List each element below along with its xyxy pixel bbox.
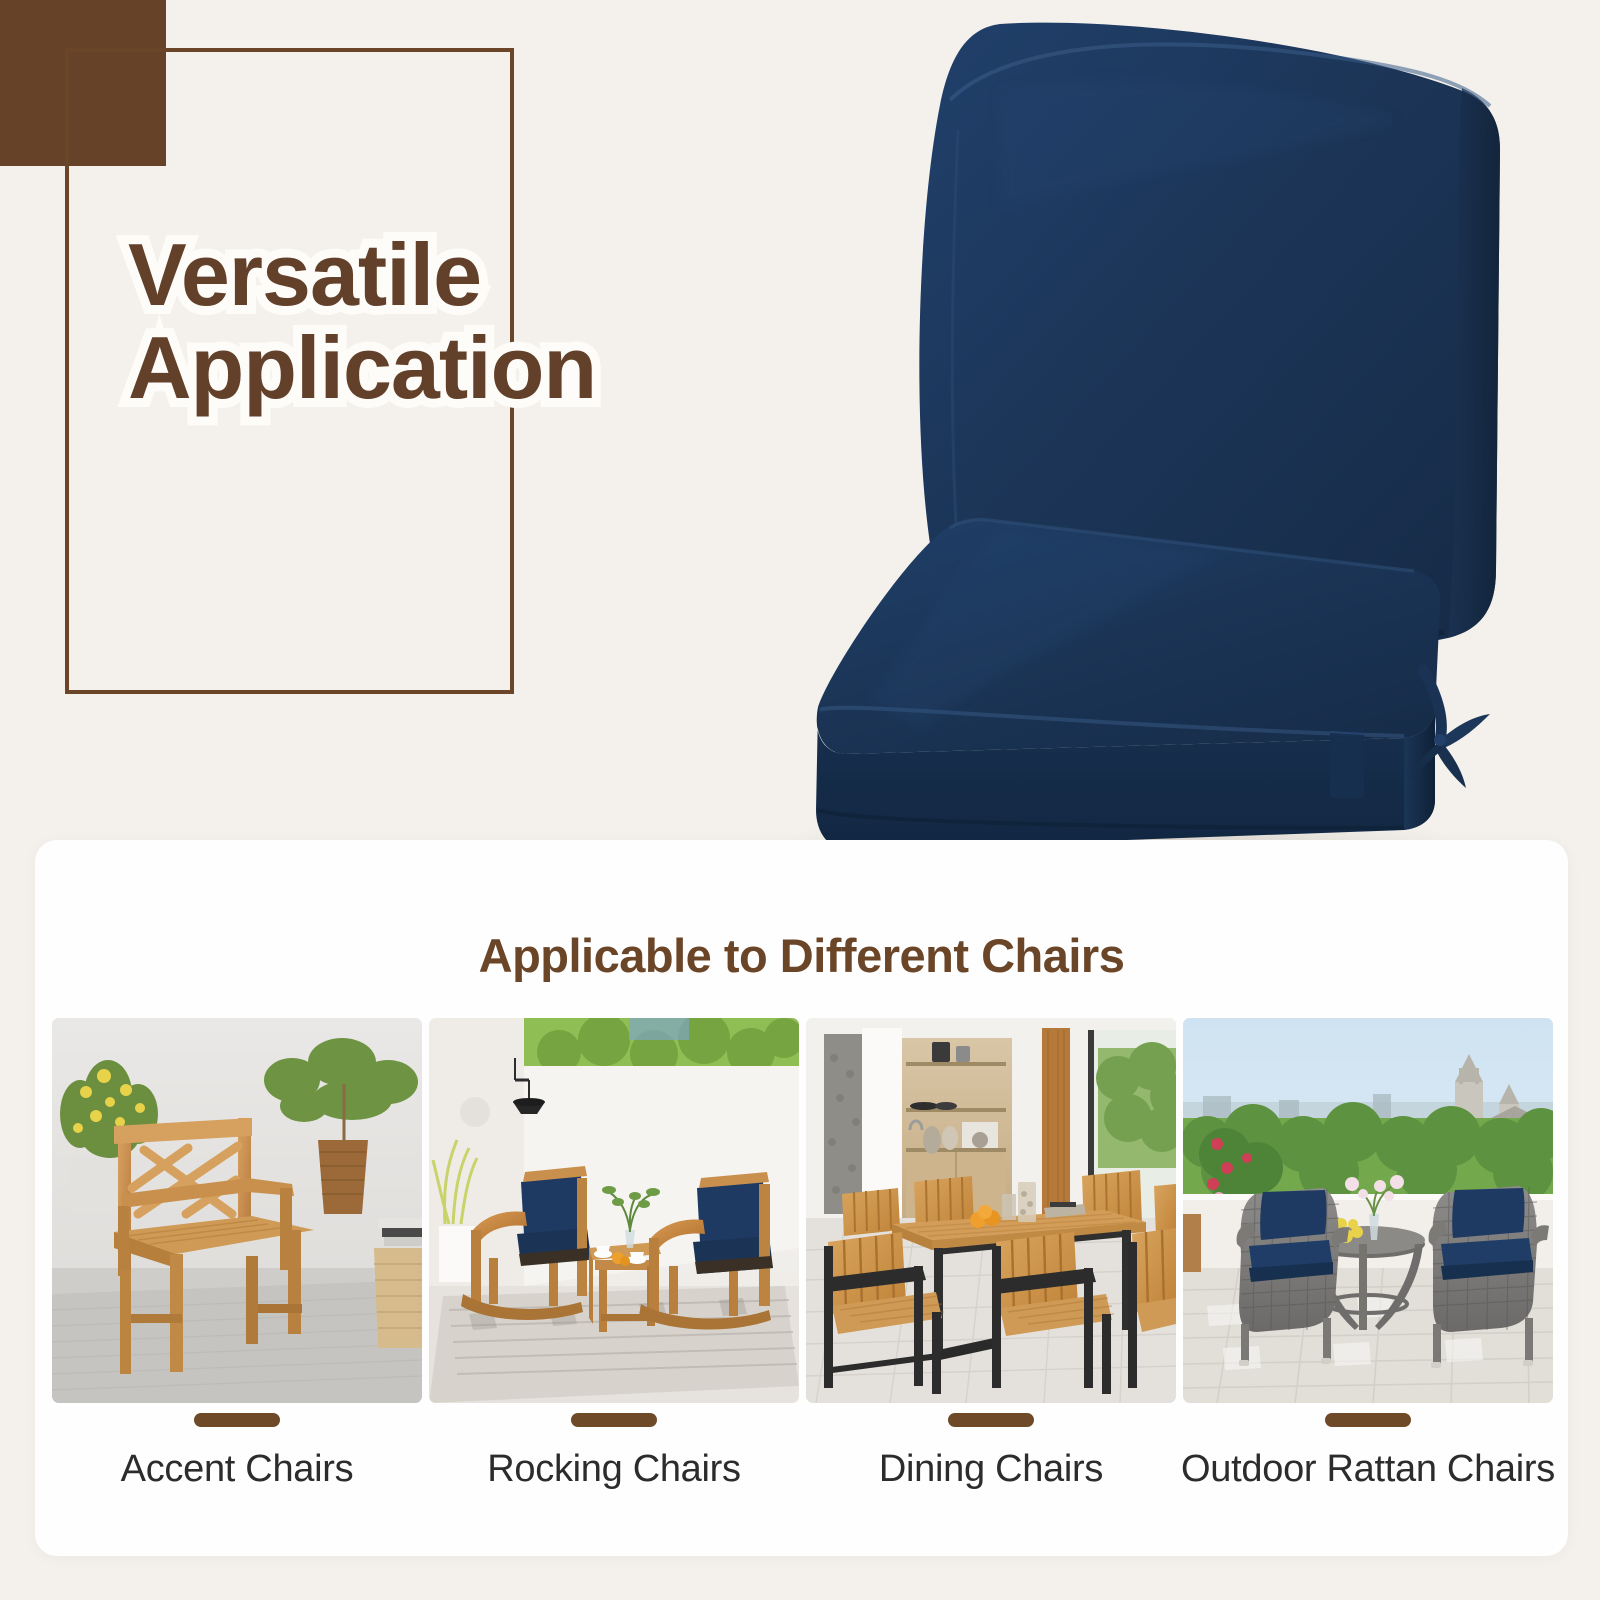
divider-pill [194, 1413, 280, 1427]
chair-option-label: Accent Chairs [47, 1449, 427, 1491]
chair-thumbnail-row: Accent Chairs [52, 1018, 1551, 1491]
chair-option-label: Outdoor Rattan Chairs [1178, 1449, 1558, 1491]
seat-cushion [816, 519, 1440, 850]
chair-option-rocking[interactable]: Rocking Chairs [429, 1018, 799, 1491]
card-title: Applicable to Different Chairs [35, 928, 1568, 983]
divider-pill [1325, 1413, 1411, 1427]
chair-option-rattan[interactable]: Outdoor Rattan Chairs [1183, 1018, 1553, 1491]
applications-card: Applicable to Different Chairs [35, 840, 1568, 1556]
divider-pill [571, 1413, 657, 1427]
rocking-chairs-photo[interactable] [429, 1018, 799, 1403]
chair-option-accent[interactable]: Accent Chairs [52, 1018, 422, 1491]
hero-product-image [700, 10, 1500, 900]
rattan-chairs-photo[interactable] [1183, 1018, 1553, 1403]
dining-chairs-photo[interactable] [806, 1018, 1176, 1403]
accent-chair-photo[interactable] [52, 1018, 422, 1403]
chair-option-dining[interactable]: Dining Chairs [806, 1018, 1176, 1491]
chair-option-label: Rocking Chairs [424, 1449, 804, 1491]
chair-option-label: Dining Chairs [801, 1449, 1181, 1491]
divider-pill [948, 1413, 1034, 1427]
